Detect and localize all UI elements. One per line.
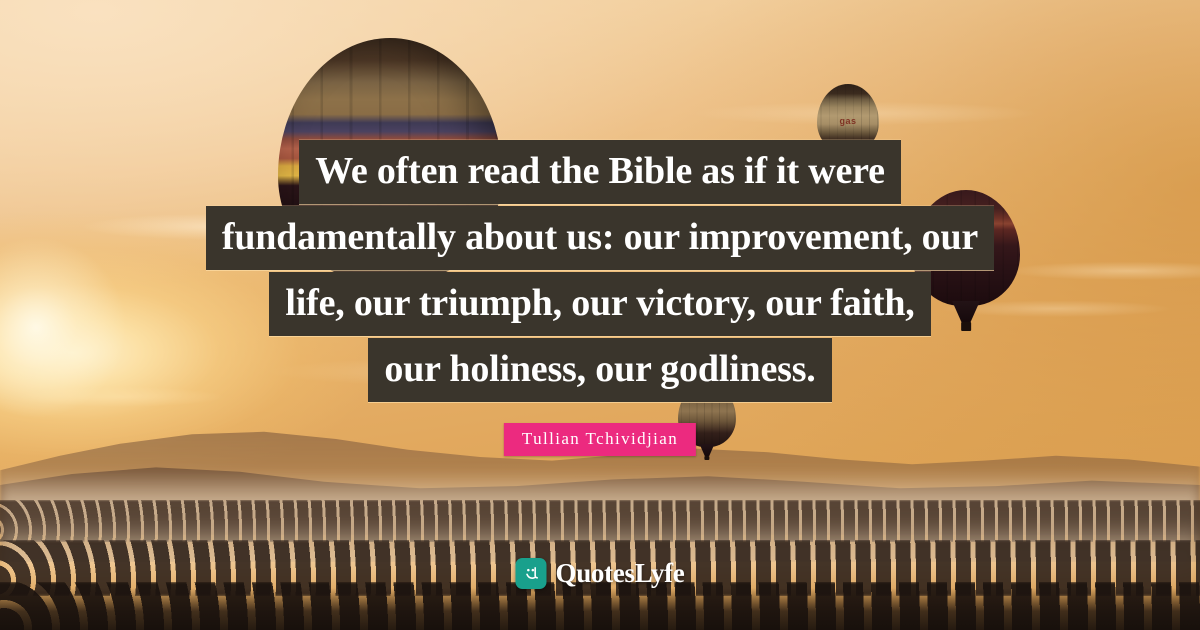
quote-line: life, our triumph, our victory, our fait… xyxy=(269,272,930,336)
author-badge: Tullian Tchividjian xyxy=(504,423,696,456)
quote-text-block: We often read the Bible as if it were fu… xyxy=(0,140,1200,402)
balloon-skirt xyxy=(699,444,714,456)
balloon-basket xyxy=(704,456,709,461)
quote-card: gas We often read the Bible as if it wer… xyxy=(0,0,1200,630)
smiley-quote-icon xyxy=(516,558,547,589)
quoteslyfe-logo[interactable]: QuotesLyfe xyxy=(516,558,685,589)
foreground-shadow xyxy=(0,588,1200,630)
quote-line: We often read the Bible as if it were xyxy=(299,140,901,204)
balloon-logo-text: gas xyxy=(839,116,856,126)
quote-line: our holiness, our godliness. xyxy=(368,338,831,402)
quoteslyfe-wordmark: QuotesLyfe xyxy=(556,558,685,589)
quote-line: fundamentally about us: our improvement,… xyxy=(206,206,994,270)
